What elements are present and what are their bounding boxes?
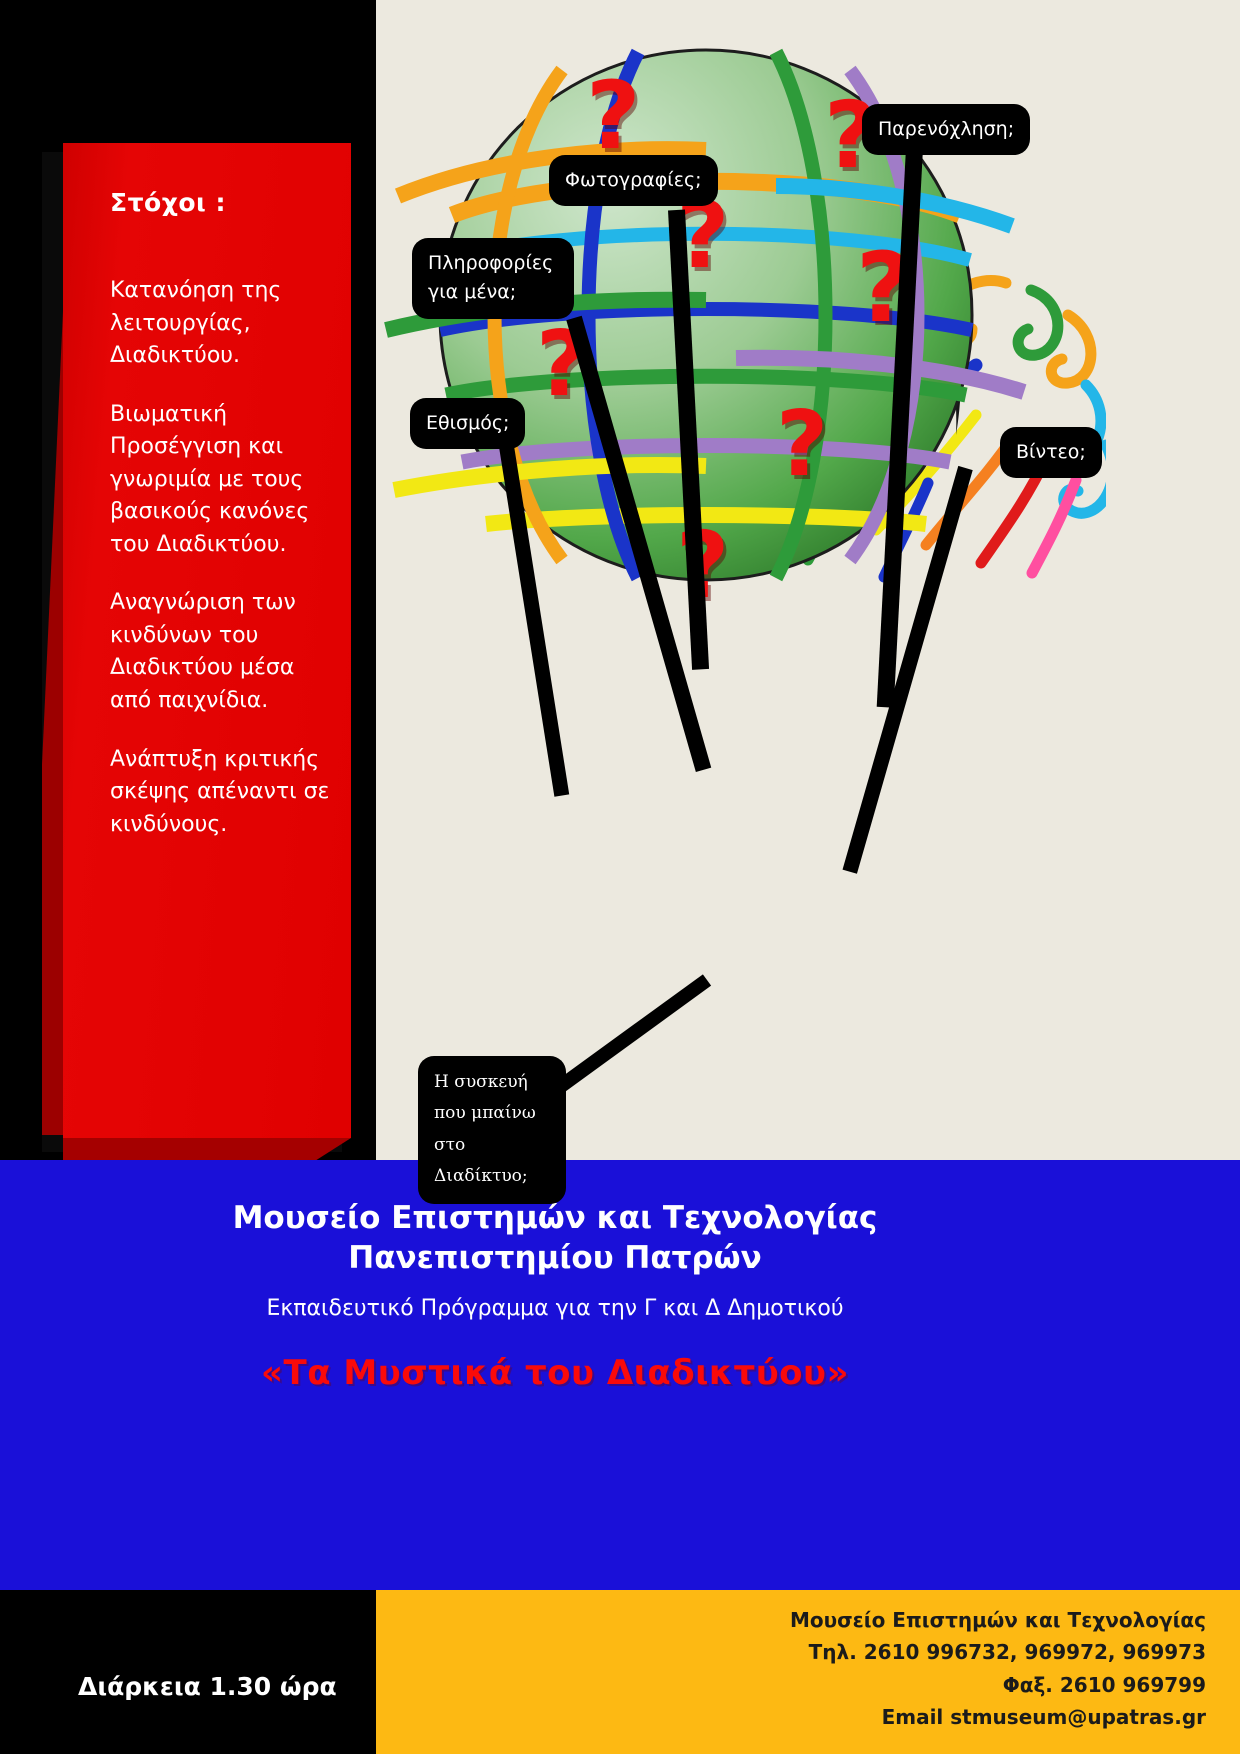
duration-label: Διάρκεια 1.30 ώρα [78,1672,337,1701]
objectives-item: Ανάπτυξη κριτικής σκέψης απέναντι σε κιν… [110,744,330,842]
objectives-item: Βιωματική Προσέγγιση και γνωριμία με του… [110,399,330,562]
question-mark-icon: ? [776,400,828,490]
callout-information-text: Πληροφορίες για μένα; [428,252,553,303]
callout-video-text: Βίντεο; [1016,441,1086,463]
objectives-item: Αναγνώριση των κινδύνων του Διαδικτύου μ… [110,587,330,717]
callout-information: Πληροφορίες για μένα; [412,238,574,319]
callout-photos: Φωτογραφίες; [549,155,718,206]
contact-phone: Τηλ. 2610 996732, 969972, 969973 [376,1636,1206,1668]
objectives-box-base [63,1138,351,1160]
contact-email: Email stmuseum@upatras.gr [376,1701,1206,1733]
callout-video: Βίντεο; [1000,427,1102,478]
callout-harassment-text: Παρενόχληση; [878,118,1014,140]
contact-details: Μουσείο Επιστημών και Τεχνολογίας Τηλ. 2… [376,1604,1206,1734]
objectives-item: Κατανόηση της λειτουργίας, Διαδικτύου. [110,275,330,373]
callout-photos-text: Φωτογραφίες; [565,169,702,191]
callout-device-text: Η συσκευή που μπαίνω στο Διαδίκτυο; [434,1072,536,1186]
contact-fax: Φαξ. 2610 969799 [376,1669,1206,1701]
museum-title-line2: Πανεπιστημίου Πατρών [0,1239,1110,1279]
illustration-panel: ? ? ? ? ? ? ? [376,0,1240,1160]
program-subtitle: Εκπαιδευτικό Πρόγραμμα για την Γ και Δ Δ… [0,1296,1110,1321]
museum-title-line1: Μουσείο Επιστημών και Τεχνολογίας [0,1199,1110,1239]
callout-addiction: Εθισμός; [410,398,525,449]
callout-device: Η συσκευή που μπαίνω στο Διαδίκτυο; [418,1056,566,1204]
callout-addiction-text: Εθισμός; [426,412,509,434]
program-title: «Τα Μυστικά του Διαδικτύου» [0,1353,1110,1393]
contact-name: Μουσείο Επιστημών και Τεχνολογίας [376,1604,1206,1636]
question-mark-icon: ? [586,70,641,164]
poster-root: ? ? ? ? ? ? ? Εθισμός; Πληροφορίες για μ… [0,0,1240,1754]
objectives-heading: Στόχοι : [110,188,330,217]
objectives-content: Στόχοι : Κατανόηση της λειτουργίας, Διαδ… [110,188,330,867]
museum-title: Μουσείο Επιστημών και Τεχνολογίας Πανεπι… [0,1199,1110,1278]
callout-harassment: Παρενόχληση; [862,104,1030,155]
